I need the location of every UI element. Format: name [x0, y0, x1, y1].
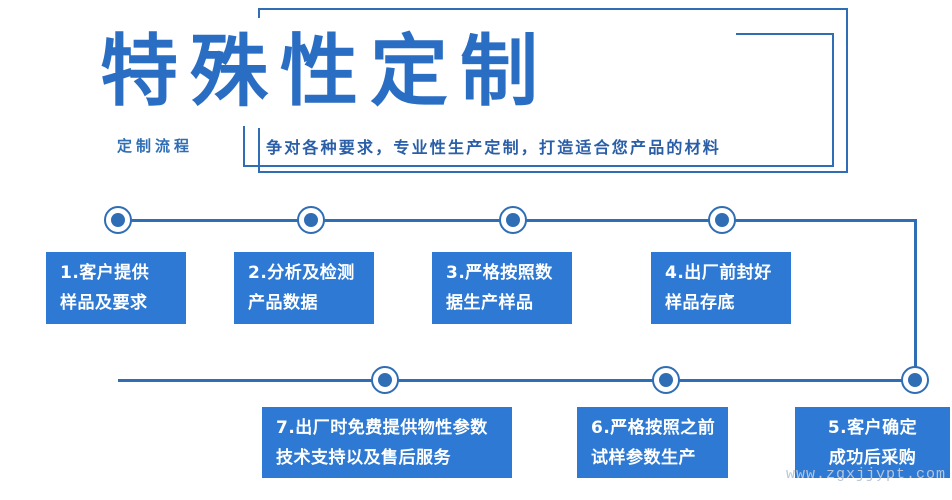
step-box-7[interactable]: 7.出厂时免费提供物性参数 技术支持以及售后服务	[262, 407, 512, 478]
step-node-6[interactable]	[652, 366, 680, 394]
step-box-1[interactable]: 1.客户提供 样品及要求	[46, 252, 186, 324]
header-subtitle-text: 争对各种要求，专业性生产定制，打造适合您产品的材料	[262, 132, 725, 160]
step-node-2[interactable]	[297, 206, 325, 234]
step-node-1[interactable]	[104, 206, 132, 234]
step-box-4-line1: 4.出厂前封好	[665, 258, 772, 288]
step-box-2-line1: 2.分析及检测	[248, 258, 355, 288]
header-subtitle-label: 定制流程	[117, 133, 199, 158]
step-node-7[interactable]	[371, 366, 399, 394]
step-box-3[interactable]: 3.严格按照数 据生产样品	[432, 252, 572, 324]
step-box-3-line1: 3.严格按照数	[446, 258, 553, 288]
header-divider	[243, 126, 245, 164]
customization-flow-infographic: 特殊性定制 定制流程 争对各种要求，专业性生产定制，打造适合您产品的材料 1.客…	[0, 0, 952, 500]
step-box-1-line2: 样品及要求	[60, 288, 148, 318]
page-title-text: 特殊性定制	[100, 27, 550, 117]
step-box-4-line2: 样品存底	[665, 288, 735, 318]
step-node-4[interactable]	[708, 206, 736, 234]
step-box-4[interactable]: 4.出厂前封好 样品存底	[651, 252, 791, 324]
step-box-6-line1: 6.严格按照之前	[591, 413, 715, 443]
flow-line-right	[914, 219, 917, 381]
flow-line-bottom	[118, 379, 917, 382]
step-box-3-line2: 据生产样品	[446, 288, 534, 318]
step-box-1-line1: 1.客户提供	[60, 258, 149, 288]
step-box-6[interactable]: 6.严格按照之前 试样参数生产	[577, 407, 728, 478]
step-box-5-line1: 5.客户确定	[828, 413, 917, 443]
step-box-7-line1: 7.出厂时免费提供物性参数	[276, 413, 488, 443]
step-box-6-line2: 试样参数生产	[591, 443, 696, 473]
step-node-5[interactable]	[901, 366, 929, 394]
step-node-3[interactable]	[499, 206, 527, 234]
step-box-7-line2: 技术支持以及售后服务	[276, 443, 451, 473]
site-watermark: www.zgxjjypt.com	[786, 466, 946, 483]
step-box-2-line2: 产品数据	[248, 288, 318, 318]
step-box-2[interactable]: 2.分析及检测 产品数据	[234, 252, 374, 324]
